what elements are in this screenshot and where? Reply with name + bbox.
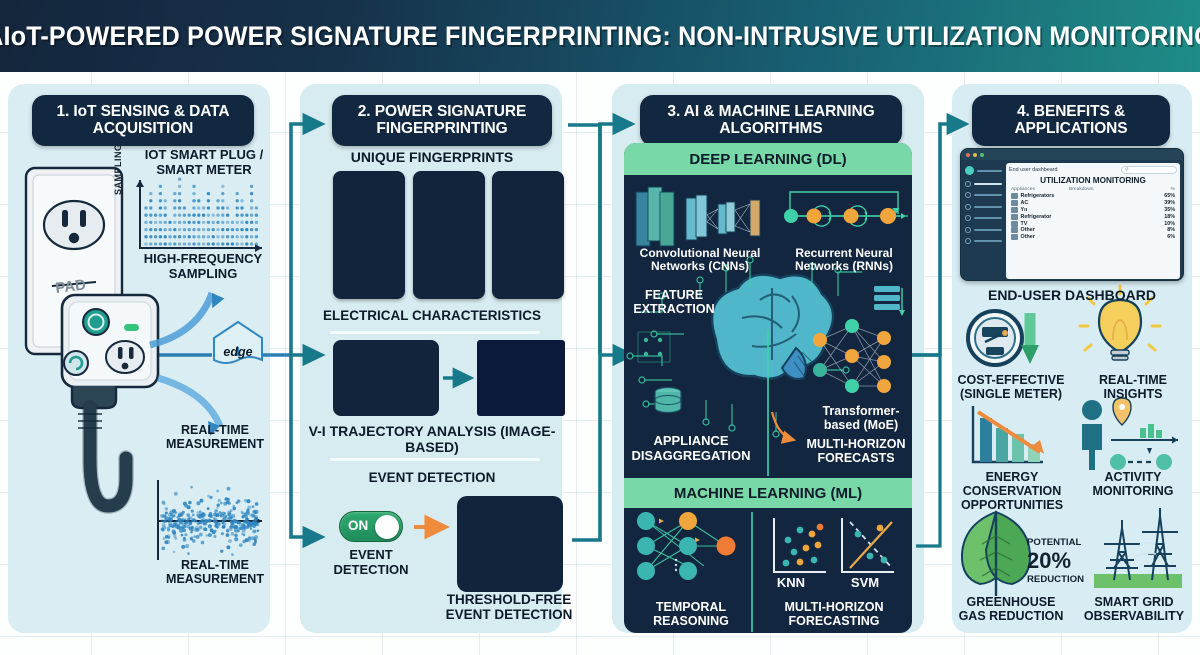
report-icon <box>965 204 971 210</box>
dashboard-main: End user dashbeard ⚲ UTILIZATION MONITOR… <box>1006 163 1180 279</box>
sidebar-item-home[interactable] <box>965 181 1002 187</box>
label-feature-extraction: FEATURE EXTRACTION <box>628 288 720 316</box>
search-input[interactable]: ⚲ <box>1121 166 1177 174</box>
appliance-icon <box>1011 227 1018 233</box>
cell-percent: 8% <box>1159 227 1175 233</box>
step-chip-3[interactable]: 3. AI & MACHINE LEARNING ALGORITHMS <box>640 95 902 146</box>
label-knn: KNN <box>760 576 822 591</box>
label-end-user-dashboard: END-USER DASHBOARD <box>960 288 1184 304</box>
label-sampling-axis: SAMPLING <box>113 143 123 195</box>
label-high-frequency-sampling: HIGH-FREQUENCY SAMPLING <box>138 252 268 281</box>
cell-percent: 18% <box>1159 214 1175 220</box>
cell-percent: 6% <box>1159 234 1175 240</box>
divider-1 <box>330 331 540 334</box>
table-row[interactable]: Other6% <box>1009 234 1177 241</box>
title-bar: AIoT-POWERED POWER SIGNATURE FINGERPRINT… <box>0 0 1200 72</box>
vi-heatmap-card <box>477 340 565 416</box>
benefit-real-time-insights: REAL-TIME INSIGHTS <box>1078 373 1188 401</box>
edge-node-label: edge <box>212 345 264 359</box>
waveform-card-2 <box>413 171 485 299</box>
label-electrical-characteristics: ELECTRICAL CHARACTERISTICS <box>310 308 554 323</box>
label-rnn: Recurrent Neural Networks (RNNs) <box>780 247 908 274</box>
table-row[interactable]: Other8% <box>1009 227 1177 234</box>
deep-learning-header: DEEP LEARNING (DL) <box>624 143 912 175</box>
minimize-dot-icon[interactable] <box>973 153 977 157</box>
label-svm: SVM <box>834 576 896 591</box>
edge-node: edge <box>212 333 264 377</box>
label-vi-trajectory: V-I TRAJECTORY ANALYSIS (IMAGE-BASED) <box>305 424 559 455</box>
label-cnn: Convolutional Neural Networks (CNNs) <box>630 247 770 274</box>
cell-appliance: Refrigerators <box>1021 193 1055 199</box>
label-multi-horizon-forecasting: MULTI-HORIZON FORECASTING <box>760 600 908 628</box>
cell-appliance: Other <box>1021 227 1035 233</box>
benefit-cost-effective: COST-EFFECTIVE (SINGLE METER) <box>955 373 1067 401</box>
cell-appliance: AC <box>1021 200 1029 206</box>
appliance-icon <box>1011 200 1018 206</box>
table-row[interactable]: AC39% <box>1009 200 1177 207</box>
toggle-state-label: ON <box>348 518 368 533</box>
search-icon: ⚲ <box>1125 167 1129 173</box>
label-appliance-disaggregation: APPLIANCE DISAGGREGATION <box>628 434 754 463</box>
maximize-dot-icon[interactable] <box>980 153 984 157</box>
label-multi-horizon-forecasts: MULTI-HORIZON FORECASTS <box>800 437 912 465</box>
end-user-dashboard-window[interactable]: End user dashbeard ⚲ UTILIZATION MONITOR… <box>960 148 1184 281</box>
event-detection-toggle[interactable]: ON <box>339 511 403 542</box>
label-temporal-reasoning: TEMPORAL REASONING <box>630 600 752 628</box>
benefit-activity-monitoring: ACTIVITY MONITORING <box>1078 470 1188 498</box>
label-event-detection-caption: EVENT DETECTION <box>318 548 424 577</box>
waveform-card-1 <box>333 171 405 299</box>
step-chip-4[interactable]: 4. BENEFITS & APPLICATIONS <box>972 95 1170 146</box>
machine-learning-header: MACHINE LEARNING (ML) <box>624 478 912 508</box>
label-real-time-measurement-bottom: REAL-TIME MEASUREMENT <box>162 558 268 586</box>
dashboard-topbar: End user dashbeard ⚲ <box>1009 166 1177 174</box>
appliance-icon <box>1011 221 1018 227</box>
sidebar-item-devices[interactable] <box>965 227 1002 233</box>
brand-dot-icon <box>965 166 974 175</box>
table-row[interactable]: TV10% <box>1009 220 1177 227</box>
device-icon <box>965 227 971 233</box>
step-chip-1[interactable]: 1. IoT SENSING & DATA ACQUISITION <box>32 95 254 146</box>
appliance-icon <box>1011 207 1018 213</box>
cell-percent: 10% <box>1159 221 1175 227</box>
header-appliances: Appliances <box>1011 187 1069 192</box>
header-breakdown: Breakdown <box>1069 187 1159 192</box>
window-titlebar <box>961 149 1183 160</box>
vi-trajectory-card <box>333 340 439 416</box>
table-row[interactable]: Yıı35% <box>1009 207 1177 214</box>
label-iot-smart-plug: IOT SMART PLUG / SMART METER <box>140 148 268 177</box>
home-icon <box>965 181 971 187</box>
cell-appliance: Other <box>1021 234 1035 240</box>
cell-appliance: Refrigerator <box>1021 214 1052 220</box>
table-row[interactable]: Refrigerators65% <box>1009 193 1177 200</box>
waveform-card-3 <box>492 171 564 299</box>
appliance-icon <box>1011 214 1018 220</box>
fingerprint-scan-card <box>457 496 563 592</box>
cell-percent: 65% <box>1159 193 1175 199</box>
appliance-icon <box>965 192 971 198</box>
bell-icon <box>965 215 971 221</box>
divider-2 <box>330 458 540 461</box>
cell-appliance: TV <box>1021 221 1028 227</box>
label-event-detection-heading: EVENT DETECTION <box>310 470 554 485</box>
sidebar-item-settings[interactable] <box>965 238 1002 244</box>
benefit-greenhouse-gas: GREENHOUSE GAS REDUCTION <box>952 595 1070 623</box>
dashboard-sidebar[interactable] <box>961 160 1006 281</box>
table-row[interactable]: Refrigerator18% <box>1009 213 1177 220</box>
sidebar-item-reports[interactable] <box>965 204 1002 210</box>
label-unique-fingerprints: UNIQUE FINGERPRINTS <box>312 150 552 166</box>
page-title: AIoT-POWERED POWER SIGNATURE FINGERPRINT… <box>0 21 1200 52</box>
sidebar-item-alerts[interactable] <box>965 215 1002 221</box>
cell-percent: 35% <box>1159 207 1175 213</box>
appliance-icon <box>1011 234 1018 240</box>
benefit-smart-grid: SMART GRID OBSERVABILITY <box>1076 595 1192 623</box>
benefit-energy-conservation: ENERGY CONSERVATION OPPORTUNITIES <box>958 470 1066 512</box>
gear-icon <box>965 238 971 244</box>
close-dot-icon[interactable] <box>966 153 970 157</box>
header-percent: % <box>1159 187 1175 192</box>
dashboard-breadcrumb: End user dashbeard <box>1009 167 1058 173</box>
sidebar-item-appliances[interactable] <box>965 192 1002 198</box>
cell-percent: 39% <box>1159 200 1175 206</box>
dashboard-title: UTILIZATION MONITORING <box>1009 176 1177 185</box>
table-body: Refrigerators65%AC39%Yıı35%Refrigerator1… <box>1009 193 1177 240</box>
appliance-icon <box>1011 193 1018 199</box>
label-threshold-free-event-detection: THRESHOLD-FREE EVENT DETECTION <box>442 592 576 622</box>
step-chip-2[interactable]: 2. POWER SIGNATURE FINGERPRINTING <box>332 95 552 146</box>
label-real-time-measurement-top: REAL-TIME MEASUREMENT <box>162 423 268 451</box>
cell-appliance: Yıı <box>1021 207 1028 213</box>
label-transformer-moe: Transformer-based (MoE) <box>812 404 910 432</box>
toggle-knob <box>375 515 399 539</box>
sidebar-item-brand[interactable] <box>965 166 1002 175</box>
